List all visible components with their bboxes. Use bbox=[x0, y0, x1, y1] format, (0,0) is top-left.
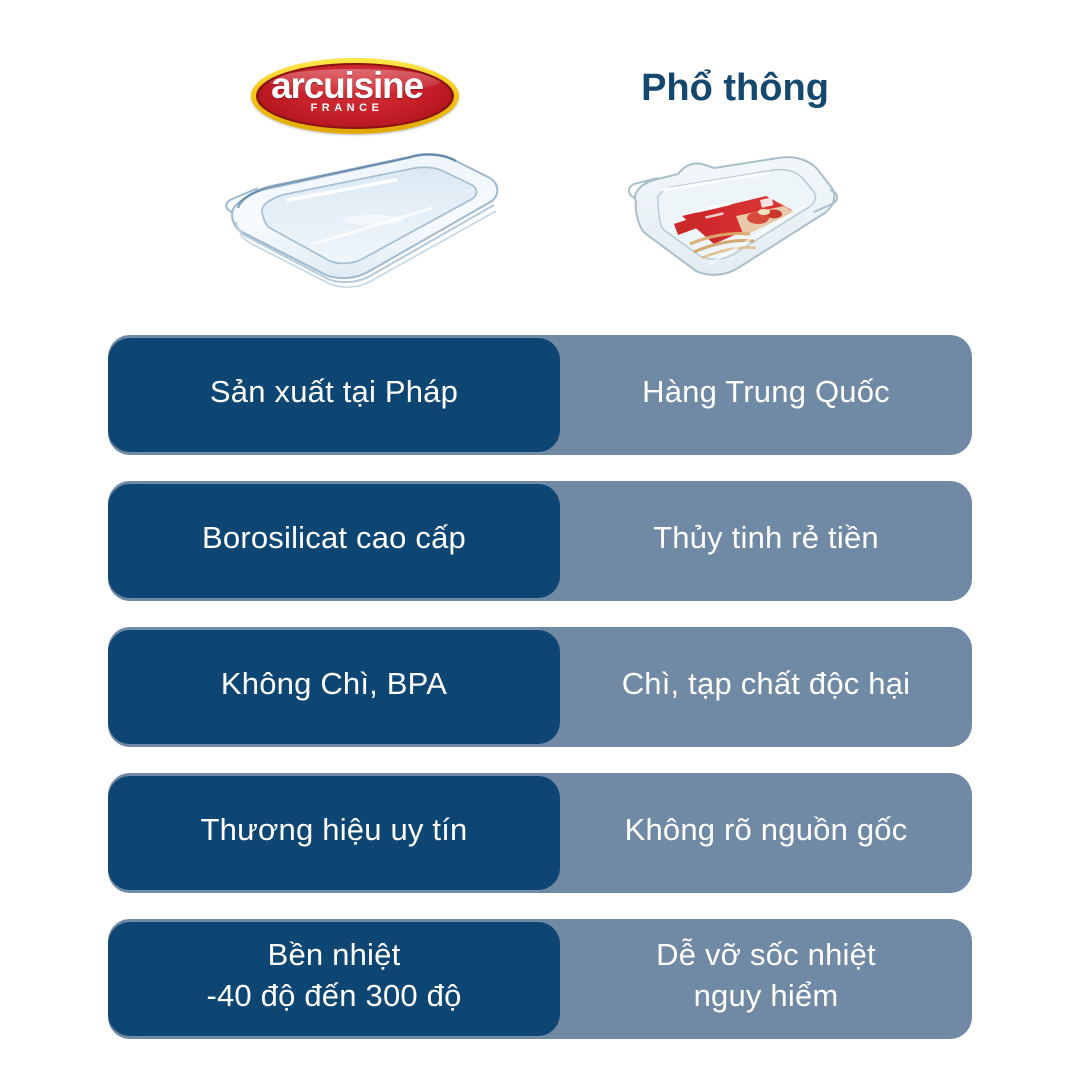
row-cell-arcuisine: Borosilicat cao cấp bbox=[108, 476, 560, 600]
comparison-row: Bền nhiệt -40 độ đến 300 độ Dễ vỡ sốc nh… bbox=[0, 914, 1080, 1038]
row-text: Sản xuất tại Pháp bbox=[210, 372, 458, 413]
row-cell-arcuisine: Bền nhiệt -40 độ đến 300 độ bbox=[108, 914, 560, 1038]
row-text: Borosilicat cao cấp bbox=[202, 518, 466, 559]
comparison-table: Sản xuất tại Pháp Hàng Trung Quốc Borosi… bbox=[0, 330, 1080, 1060]
row-text: Không rõ nguồn gốc bbox=[625, 810, 908, 851]
row-cell-generic: Hàng Trung Quốc bbox=[560, 330, 972, 454]
row-cell-arcuisine: Sản xuất tại Pháp bbox=[108, 330, 560, 454]
row-cell-generic: Chì, tạp chất độc hại bbox=[560, 622, 972, 746]
column-title-generic: Phổ thông bbox=[560, 68, 910, 110]
arcuisine-logo: arcuisine FRANCE bbox=[251, 58, 459, 134]
row-cell-arcuisine: Thương hiệu uy tín bbox=[108, 768, 560, 892]
row-text: Dễ vỡ sốc nhiệt bbox=[656, 935, 876, 976]
row-cell-generic: Không rõ nguồn gốc bbox=[560, 768, 972, 892]
row-cell-generic: Dễ vỡ sốc nhiệt nguy hiểm bbox=[560, 914, 972, 1038]
comparison-row: Không Chì, BPA Chì, tạp chất độc hại bbox=[0, 622, 1080, 746]
row-text: Bền nhiệt bbox=[206, 935, 461, 976]
row-text: Chì, tạp chất độc hại bbox=[622, 664, 911, 705]
row-text: Thương hiệu uy tín bbox=[201, 810, 468, 851]
logo-brand-name: arcuisine bbox=[251, 67, 443, 104]
header: arcuisine FRANCE Phổ thông bbox=[0, 0, 1080, 310]
product-image-generic-dish bbox=[618, 140, 848, 290]
comparison-row: Borosilicat cao cấp Thủy tinh rẻ tiền bbox=[0, 476, 1080, 600]
row-cell-arcuisine: Không Chì, BPA bbox=[108, 622, 560, 746]
comparison-row: Sản xuất tại Pháp Hàng Trung Quốc bbox=[0, 330, 1080, 454]
row-text: nguy hiểm bbox=[656, 976, 876, 1017]
row-cell-generic: Thủy tinh rẻ tiền bbox=[560, 476, 972, 600]
row-text: Không Chì, BPA bbox=[221, 664, 447, 705]
row-text: -40 độ đến 300 độ bbox=[206, 976, 461, 1017]
comparison-row: Thương hiệu uy tín Không rõ nguồn gốc bbox=[0, 768, 1080, 892]
product-image-arcuisine-dish bbox=[218, 148, 503, 288]
logo-brand-country: FRANCE bbox=[251, 103, 443, 114]
row-text: Hàng Trung Quốc bbox=[642, 372, 890, 413]
row-text: Thủy tinh rẻ tiền bbox=[653, 518, 879, 559]
